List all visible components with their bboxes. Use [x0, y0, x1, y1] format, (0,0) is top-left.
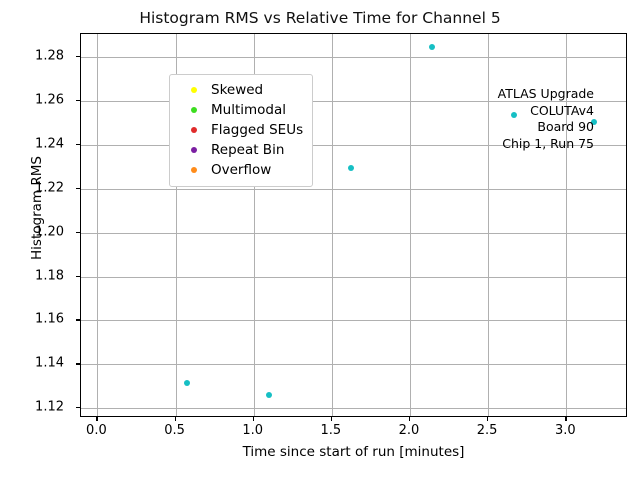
- chart-figure: Histogram RMS vs Relative Time for Chann…: [0, 0, 640, 480]
- y-tick-mark-0: [76, 407, 80, 408]
- y-tick-mark-5: [76, 188, 80, 189]
- annotation-text: ATLAS UpgradeCOLUTAv4Board 90Chip 1, Run…: [498, 86, 594, 152]
- plot-area: SkewedMultimodalFlagged SEUsRepeat BinOv…: [80, 33, 627, 417]
- annotation-line-3: Chip 1, Run 75: [498, 136, 594, 153]
- legend-item-overflow[interactable]: Overflow: [177, 160, 303, 180]
- legend-marker-icon: [177, 147, 211, 153]
- x-tick-label-4: 2.0: [379, 423, 439, 438]
- y-tick-mark-3: [76, 276, 80, 277]
- data-point: [184, 380, 190, 386]
- legend-swatch-3: [191, 147, 197, 153]
- x-tick-mark-3: [331, 417, 332, 421]
- data-point: [266, 392, 272, 398]
- legend-label: Flagged SEUs: [211, 122, 303, 138]
- x-tick-mark-6: [565, 417, 566, 421]
- y-tick-mark-7: [76, 100, 80, 101]
- data-point: [429, 44, 435, 50]
- y-tick-mark-6: [76, 144, 80, 145]
- x-tick-label-1: 0.5: [145, 423, 205, 438]
- legend-label: Skewed: [211, 82, 263, 98]
- y-tick-mark-2: [76, 319, 80, 320]
- x-tick-mark-5: [487, 417, 488, 421]
- y-tick-label-0: 1.12: [4, 400, 64, 415]
- y-tick-mark-1: [76, 363, 80, 364]
- annotation-line-1: COLUTAv4: [498, 103, 594, 120]
- annotation-line-0: ATLAS Upgrade: [498, 86, 594, 103]
- legend-marker-icon: [177, 107, 211, 113]
- legend-label: Overflow: [211, 162, 271, 178]
- chart-legend[interactable]: SkewedMultimodalFlagged SEUsRepeat BinOv…: [169, 74, 313, 187]
- legend-label: Repeat Bin: [211, 142, 284, 158]
- page-title: Histogram RMS vs Relative Time for Chann…: [0, 9, 640, 27]
- legend-marker-icon: [177, 167, 211, 173]
- legend-item-repeat-bin[interactable]: Repeat Bin: [177, 140, 303, 160]
- x-tick-label-0: 0.0: [66, 423, 126, 438]
- legend-swatch-0: [191, 87, 197, 93]
- y-tick-mark-8: [76, 56, 80, 57]
- y-axis-label: Histogram RMS: [29, 16, 45, 400]
- y-tick-mark-4: [76, 232, 80, 233]
- x-tick-mark-2: [253, 417, 254, 421]
- x-tick-mark-1: [175, 417, 176, 421]
- x-tick-mark-0: [96, 417, 97, 421]
- x-tick-label-2: 1.0: [223, 423, 283, 438]
- legend-marker-icon: [177, 127, 211, 133]
- legend-item-skewed[interactable]: Skewed: [177, 80, 303, 100]
- x-axis-label: Time since start of run [minutes]: [80, 444, 627, 460]
- x-tick-mark-4: [409, 417, 410, 421]
- legend-swatch-4: [191, 167, 197, 173]
- annotation-line-2: Board 90: [498, 119, 594, 136]
- x-tick-label-6: 3.0: [535, 423, 595, 438]
- legend-label: Multimodal: [211, 102, 286, 118]
- legend-swatch-1: [191, 107, 197, 113]
- legend-item-multimodal[interactable]: Multimodal: [177, 100, 303, 120]
- legend-item-flagged-seus[interactable]: Flagged SEUs: [177, 120, 303, 140]
- x-tick-label-5: 2.5: [457, 423, 517, 438]
- x-tick-label-3: 1.5: [301, 423, 361, 438]
- legend-marker-icon: [177, 87, 211, 93]
- legend-swatch-2: [191, 127, 197, 133]
- data-point: [348, 165, 354, 171]
